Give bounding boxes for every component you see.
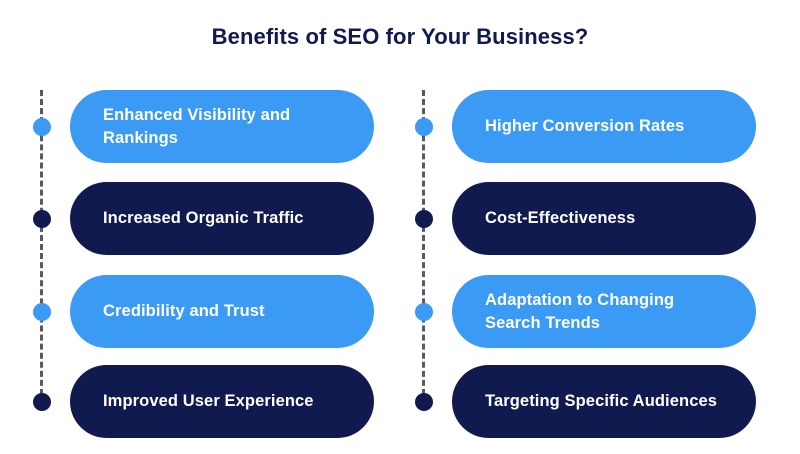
- timeline-dot-icon: [33, 210, 51, 228]
- benefit-card-label: Enhanced Visibility and Rankings: [103, 104, 352, 150]
- benefit-card[interactable]: Adaptation to Changing Search Trends: [452, 275, 756, 348]
- benefit-card-label: Improved User Experience: [103, 390, 314, 413]
- timeline-dot-icon: [415, 393, 433, 411]
- timeline-dot-icon: [415, 210, 433, 228]
- left-column: Enhanced Visibility and Rankings Increas…: [30, 90, 380, 440]
- timeline-dot-icon: [415, 118, 433, 136]
- list-item[interactable]: Enhanced Visibility and Rankings: [30, 90, 380, 163]
- benefit-card[interactable]: Improved User Experience: [70, 365, 374, 438]
- list-item[interactable]: Improved User Experience: [30, 365, 380, 438]
- list-item[interactable]: Adaptation to Changing Search Trends: [412, 275, 762, 348]
- infographic-canvas: Benefits of SEO for Your Business? Enhan…: [0, 0, 800, 454]
- benefit-card[interactable]: Targeting Specific Audiences: [452, 365, 756, 438]
- timeline-dot-icon: [33, 393, 51, 411]
- timeline-dot-icon: [33, 303, 51, 321]
- benefit-card[interactable]: Cost-Effectiveness: [452, 182, 756, 255]
- list-item[interactable]: Credibility and Trust: [30, 275, 380, 348]
- list-item[interactable]: Higher Conversion Rates: [412, 90, 762, 163]
- list-item[interactable]: Targeting Specific Audiences: [412, 365, 762, 438]
- benefit-card-label: Increased Organic Traffic: [103, 207, 304, 230]
- list-item[interactable]: Cost-Effectiveness: [412, 182, 762, 255]
- timeline-dot-icon: [415, 303, 433, 321]
- benefit-card-label: Higher Conversion Rates: [485, 115, 684, 138]
- list-item[interactable]: Increased Organic Traffic: [30, 182, 380, 255]
- benefit-card[interactable]: Higher Conversion Rates: [452, 90, 756, 163]
- benefit-card-label: Cost-Effectiveness: [485, 207, 635, 230]
- benefit-card[interactable]: Enhanced Visibility and Rankings: [70, 90, 374, 163]
- timeline-dot-icon: [33, 118, 51, 136]
- benefit-card-label: Adaptation to Changing Search Trends: [485, 289, 734, 335]
- benefit-card-label: Credibility and Trust: [103, 300, 265, 323]
- page-title: Benefits of SEO for Your Business?: [0, 22, 800, 52]
- right-column: Higher Conversion Rates Cost-Effectivene…: [412, 90, 762, 440]
- benefit-card[interactable]: Credibility and Trust: [70, 275, 374, 348]
- benefit-card-label: Targeting Specific Audiences: [485, 390, 717, 413]
- benefit-card[interactable]: Increased Organic Traffic: [70, 182, 374, 255]
